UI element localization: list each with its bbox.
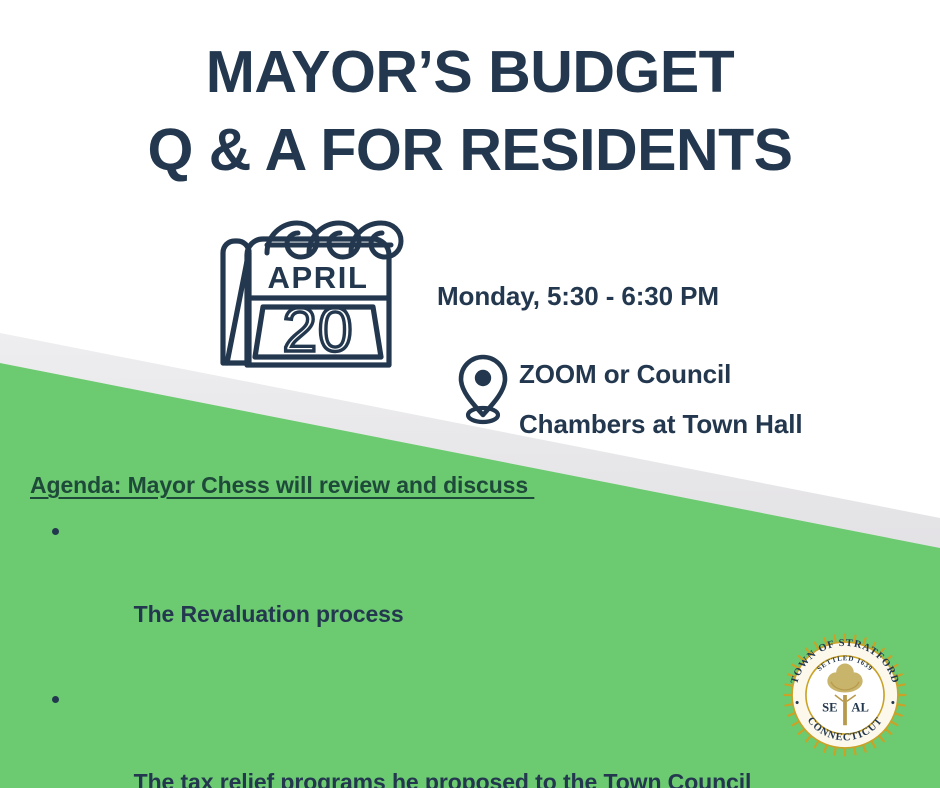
title-line-2: Q & A FOR RESIDENTS — [0, 112, 940, 190]
page-title: MAYOR’S BUDGET Q & A FOR RESIDENTS — [0, 34, 940, 190]
bullet-icon — [52, 696, 59, 703]
list-item-label: The tax relief programs he proposed to t… — [127, 769, 751, 788]
location-line-2: Chambers at Town Hall — [519, 399, 802, 449]
agenda-section: Agenda: Mayor Chess will review and disc… — [30, 472, 890, 788]
seal-inner-left-text: SE — [822, 700, 837, 714]
bullet-icon — [52, 528, 59, 535]
list-item-label: The Revaluation process — [127, 601, 403, 627]
event-location: ZOOM or Council Chambers at Town Hall — [455, 349, 802, 449]
location-pin-icon — [455, 351, 511, 427]
list-item: The Revaluation process — [30, 509, 890, 677]
seal-inner-right-text: AL — [851, 700, 869, 714]
agenda-heading: Agenda: Mayor Chess will review and disc… — [30, 472, 534, 499]
calendar-month-label: APRIL — [268, 260, 369, 295]
location-line-1: ZOOM or Council — [519, 349, 802, 399]
town-seal-logo: TOWN OF STRATFORD CONNECTICUT SETTLED 16… — [782, 632, 908, 758]
title-line-1: MAYOR’S BUDGET — [0, 34, 940, 112]
poster-canvas: MAYOR’S BUDGET Q & A FOR RESIDENTS APRIL… — [0, 0, 940, 788]
calendar-icon: APRIL 20 — [205, 205, 410, 390]
agenda-list: The Revaluation process The tax relief p… — [30, 509, 890, 788]
event-datetime: Monday, 5:30 - 6:30 PM — [437, 281, 719, 312]
calendar-day-label: 20 — [283, 296, 354, 365]
list-item: The tax relief programs he proposed to t… — [30, 677, 890, 788]
